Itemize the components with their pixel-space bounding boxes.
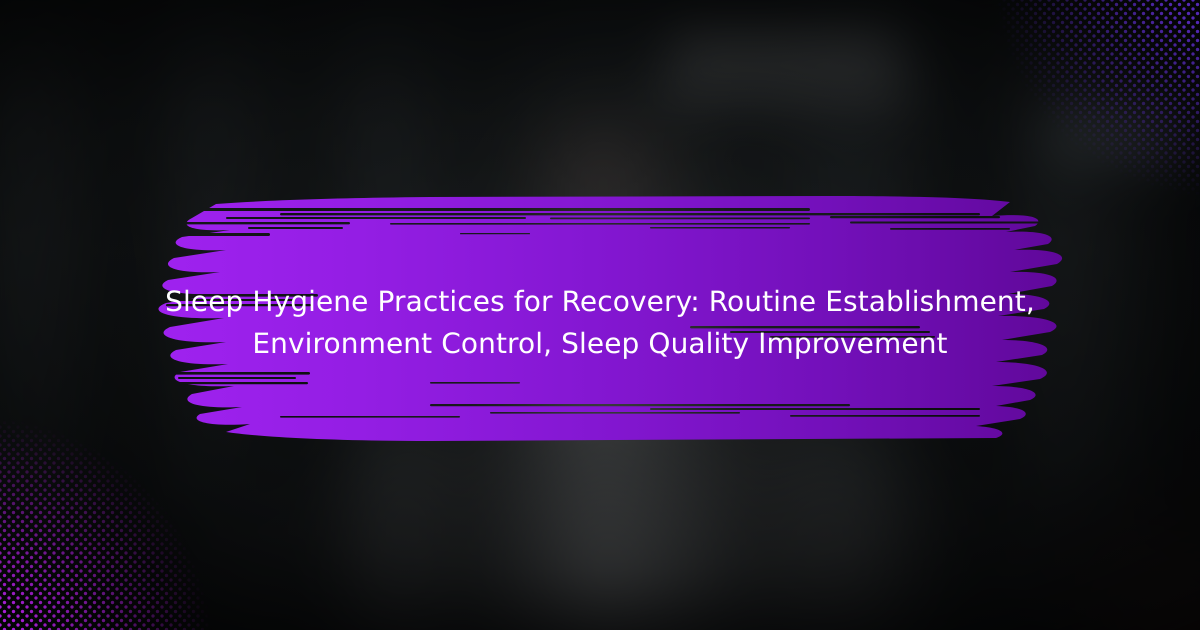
- page-title: Sleep Hygiene Practices for Recovery: Ro…: [150, 281, 1050, 365]
- title-line-1: Sleep Hygiene Practices for Recovery: Ro…: [150, 281, 1050, 323]
- share-banner: Sleep Hygiene Practices for Recovery: Ro…: [0, 0, 1200, 630]
- title-line-2: Environment Control, Sleep Quality Impro…: [150, 323, 1050, 365]
